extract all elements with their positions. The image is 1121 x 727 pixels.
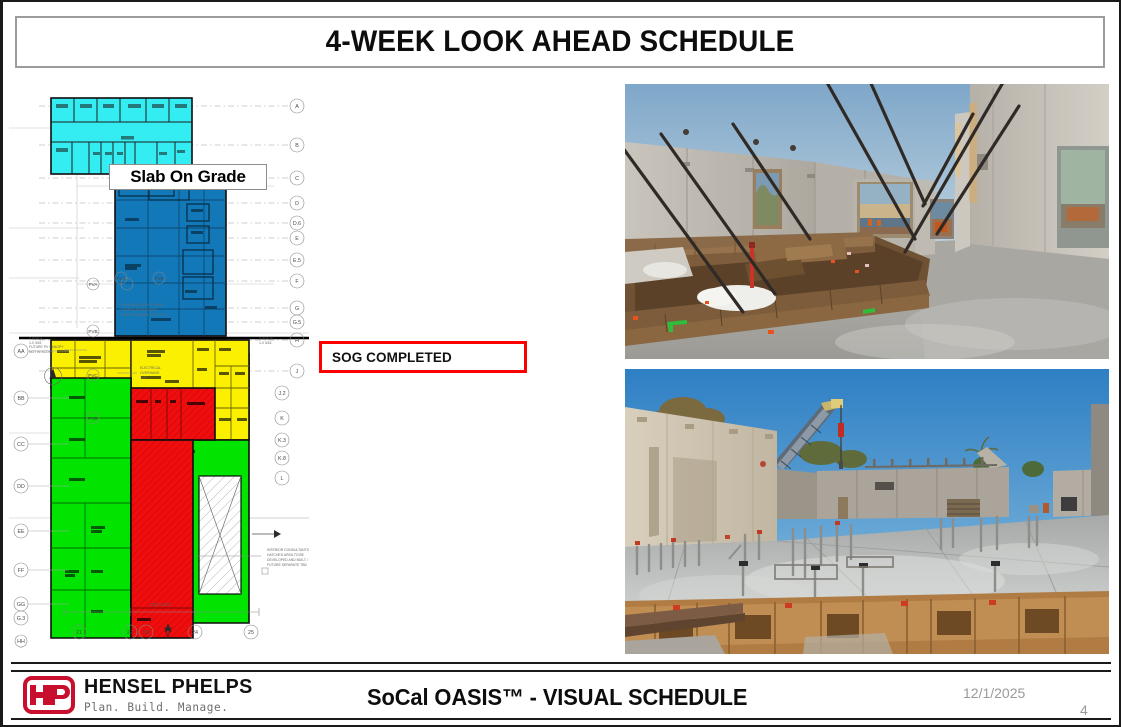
- svg-text:PV ARRAY CANOPY FINAL: PV ARRAY CANOPY FINAL: [121, 303, 164, 307]
- grid-bubbles-right: A B C D D.6E E.5F G G.5 H J J.2K K.3K.8: [275, 99, 304, 465]
- floor-plan-panel[interactable]: A B C D D.6E E.5F G G.5 H J J.2K K.3K.8 …: [9, 78, 321, 648]
- svg-text:G: G: [295, 306, 299, 312]
- svg-text:EE: EE: [17, 529, 25, 535]
- plan-title-label-text: Slab On Grade: [130, 167, 246, 187]
- svg-text:L: L: [281, 476, 284, 482]
- svg-text:HATCHED AREA TO BE: HATCHED AREA TO BE: [267, 553, 305, 557]
- svg-text:GG: GG: [17, 602, 25, 608]
- slide-canvas: 4-WEEK LOOK AHEAD SCHEDULE: [0, 0, 1121, 727]
- svg-text:PVC: PVC: [88, 373, 98, 378]
- svg-text:25: 25: [248, 630, 254, 636]
- photo-tiltup-walls-trench[interactable]: [625, 84, 1109, 359]
- grid-bubbles-left: AABB CCDD EEFF GGG.3 HHH.5: [14, 344, 28, 648]
- zone-cyan-group: [51, 98, 192, 174]
- svg-text:G.5: G.5: [293, 320, 302, 326]
- svg-text:23: 23: [143, 630, 149, 636]
- footer-rule-lower: [11, 718, 1111, 720]
- svg-text:BB: BB: [17, 396, 25, 402]
- svg-text:H: H: [295, 338, 299, 344]
- svg-text:J: J: [296, 369, 299, 375]
- svg-text:DEVELOPED AND BUILT /: DEVELOPED AND BUILT /: [267, 558, 308, 562]
- svg-text:D.6: D.6: [293, 221, 301, 227]
- svg-text:PVA: PVA: [89, 282, 99, 287]
- svg-text:HH: HH: [17, 639, 25, 645]
- svg-text:FUTURE SEPARATE TBD: FUTURE SEPARATE TBD: [267, 563, 307, 567]
- section-arrow-right: [252, 530, 281, 538]
- svg-text:24: 24: [192, 630, 198, 636]
- sog-completed-callout-text: SOG COMPLETED: [332, 350, 452, 365]
- svg-text:1-0 3/16: 1-0 3/16: [259, 341, 272, 345]
- photo-poured-slab-crane[interactable]: [625, 369, 1109, 654]
- hp-monogram-icon: [23, 676, 75, 714]
- sog-completed-callout[interactable]: SOG COMPLETED: [319, 341, 527, 373]
- svg-text:E.5: E.5: [293, 258, 301, 264]
- svg-text:A: A: [295, 104, 299, 110]
- svg-text:K: K: [280, 416, 284, 422]
- plan-title-label: Slab On Grade: [109, 164, 267, 190]
- svg-text:PV2: PV2: [155, 276, 164, 281]
- svg-text:FF: FF: [18, 568, 25, 574]
- slide-title-box: 4-WEEK LOOK AHEAD SCHEDULE: [15, 16, 1105, 68]
- logo-wordmark: HENSEL PHELPS Plan. Build. Manage.: [84, 677, 260, 713]
- svg-text:E: E: [295, 236, 299, 242]
- svg-text:ELECTRICAL: ELECTRICAL: [140, 366, 161, 370]
- svg-text:SIZE PER MANUF. TBD. TYP.: SIZE PER MANUF. TBD. TYP.: [121, 313, 167, 317]
- svg-text:OVERHANG: OVERHANG: [140, 371, 160, 375]
- company-tagline: Plan. Build. Manage.: [84, 702, 253, 714]
- slide-footer: HENSEL PHELPS Plan. Build. Manage. SoCal…: [11, 672, 1111, 718]
- svg-text:CONFIGURATION AND: CONFIGURATION AND: [121, 308, 158, 312]
- company-name: HENSEL PHELPS: [84, 677, 253, 698]
- svg-text:NOT IN SCOPE: NOT IN SCOPE: [29, 350, 54, 354]
- svg-text:J.2: J.2: [278, 391, 285, 397]
- svg-text:INTERIOR CONSULTANTS: INTERIOR CONSULTANTS: [267, 548, 310, 552]
- svg-text:PV1: PV1: [117, 276, 126, 281]
- svg-text:FUTURE PV CANOPY: FUTURE PV CANOPY: [29, 345, 64, 349]
- svg-text:CC: CC: [17, 442, 25, 448]
- svg-text:G.3: G.3: [17, 616, 26, 622]
- svg-text:1-0 3/16: 1-0 3/16: [29, 341, 42, 345]
- svg-text:21: 21: [76, 630, 82, 636]
- svg-text:AA: AA: [17, 349, 25, 355]
- hensel-phelps-logo[interactable]: HENSEL PHELPS Plan. Build. Manage.: [23, 676, 260, 714]
- slide-number: 4: [1080, 702, 1088, 718]
- svg-text:K.8: K.8: [278, 456, 286, 462]
- svg-text:PVD: PVD: [88, 416, 98, 421]
- svg-text:C: C: [295, 176, 299, 182]
- footer-rule-upper: [11, 662, 1111, 664]
- svg-text:PVB: PVB: [88, 329, 97, 334]
- svg-text:22: 22: [127, 630, 133, 636]
- courtyard-hatch-area: [199, 476, 241, 594]
- overall-dimension-text: 136'-8 1/2": [150, 602, 172, 607]
- project-title: SoCal OASIS™ - VISUAL SCHEDULE: [367, 684, 747, 711]
- svg-text:D: D: [295, 201, 299, 207]
- slide-date: 12/1/2025: [963, 685, 1025, 701]
- svg-text:K.3: K.3: [278, 438, 286, 444]
- svg-text:B: B: [295, 143, 299, 149]
- svg-text:TYP.: TYP.: [140, 376, 147, 380]
- page-title: 4-WEEK LOOK AHEAD SCHEDULE: [326, 25, 795, 59]
- svg-text:F: F: [295, 279, 299, 285]
- svg-text:DD: DD: [17, 484, 25, 490]
